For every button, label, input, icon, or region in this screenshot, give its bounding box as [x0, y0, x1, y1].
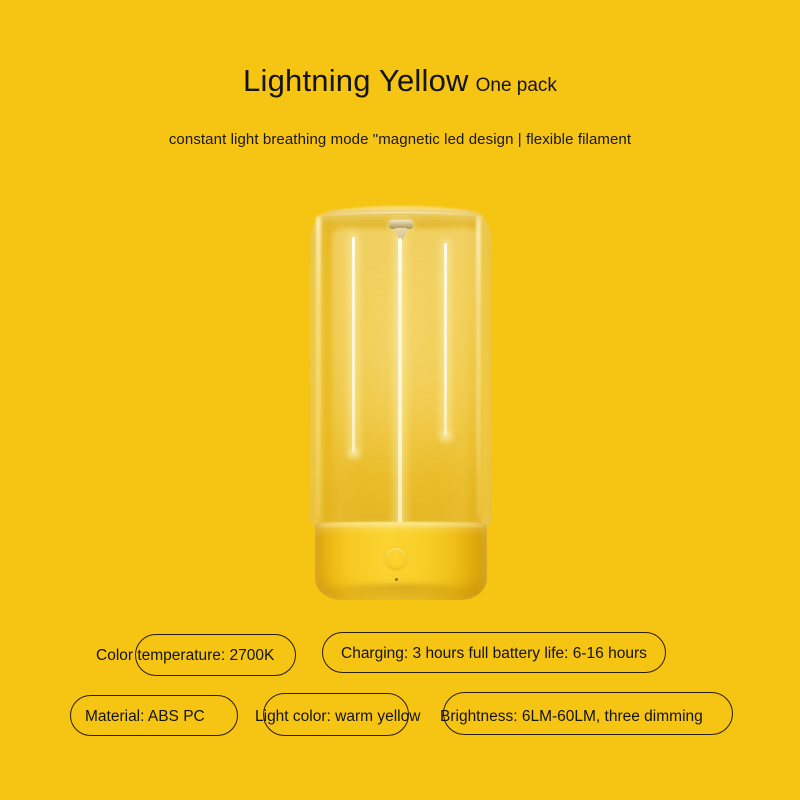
product-lamp-image	[305, 200, 497, 610]
page-title: Lightning YellowOne pack	[0, 65, 800, 96]
filament-core	[352, 237, 355, 452]
lamp-base-shading	[321, 584, 481, 598]
feature-label-color-temperature: Color temperature: 2700K	[96, 648, 274, 664]
filament-core	[398, 238, 402, 523]
product-title: Lightning Yellow	[243, 63, 469, 98]
feature-label-material: Material: ABS PC	[85, 709, 205, 725]
pack-quantity-label: One pack	[476, 75, 557, 96]
product-image-canvas: Lightning YellowOne pack constant light …	[0, 0, 800, 800]
led-filament-center	[398, 238, 402, 523]
filament-tip-glow	[437, 431, 454, 444]
led-mount-icon	[389, 220, 413, 229]
feature-label-charging: Charging: 3 hours full battery life: 6-1…	[341, 646, 647, 662]
power-button-icon	[385, 548, 407, 570]
filament-core	[444, 243, 447, 435]
feature-label-light-color: Light color: warm yellow	[255, 709, 420, 725]
lamp-base-seam	[317, 522, 485, 529]
filament-tip-glow	[345, 448, 362, 461]
glass-right-highlight	[476, 216, 481, 516]
led-filament-right	[444, 243, 447, 435]
led-filament-left	[352, 237, 355, 452]
product-subtitle: constant light breathing mode "magnetic …	[0, 131, 800, 148]
feature-label-brightness: Brightness: 6LM-60LM, three dimming	[440, 709, 703, 725]
indicator-dot-icon	[395, 578, 398, 581]
glass-left-highlight	[316, 216, 321, 516]
